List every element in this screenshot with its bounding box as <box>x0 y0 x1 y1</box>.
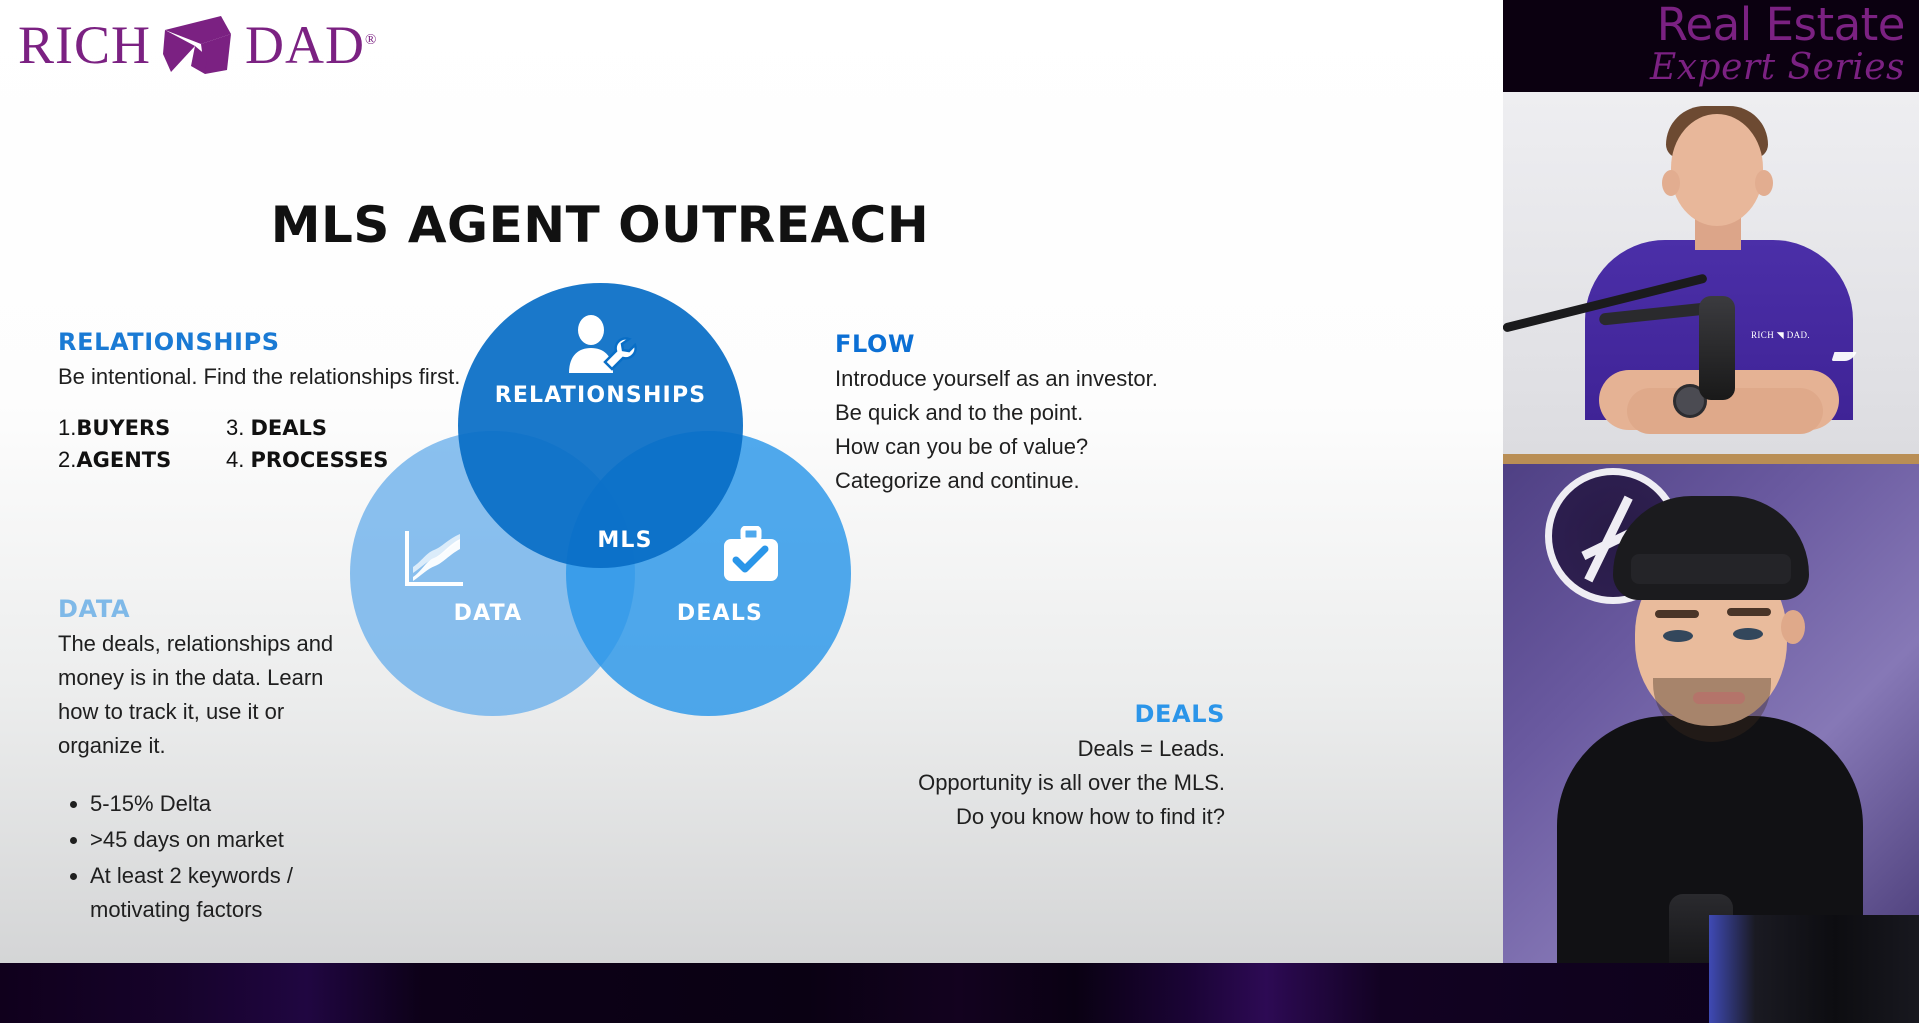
guest-eye-right <box>1733 628 1763 640</box>
registered-mark: ® <box>365 32 377 48</box>
data-body: The deals, relationships and money is in… <box>58 627 358 763</box>
bottom-dark-band <box>0 963 1919 1023</box>
guest-mouth <box>1693 692 1745 704</box>
venn-label-data: DATA <box>368 601 608 626</box>
bottom-right-curtain <box>1709 915 1919 1023</box>
guest-brow-left <box>1655 610 1699 618</box>
venn-label-mls: MLS <box>535 528 715 553</box>
rich-dad-swoosh-icon <box>161 14 235 76</box>
flow-line: How can you be of value? <box>835 430 1215 464</box>
guest-cap <box>1613 496 1809 600</box>
rich-dad-logo: RICH DAD® <box>18 14 377 76</box>
series-line-1: Real Estate <box>1505 2 1905 48</box>
guest-webcam-panel[interactable] <box>1503 454 1919 963</box>
presentation-slide: RICH DAD® MLS AGENT OUTREACH RELATIONSHI… <box>0 0 1503 963</box>
deals-line: Deals = Leads. <box>830 732 1225 766</box>
list-item: At least 2 keywords / motivating factors <box>90 859 358 927</box>
flow-line: Be quick and to the point. <box>835 396 1215 430</box>
guest-ceiling-trim <box>1503 454 1919 464</box>
host-ear-right <box>1755 170 1773 196</box>
series-line-2: Expert Series <box>1505 48 1905 88</box>
venn-diagram: RELATIONSHIPS DATA DEALS MLS <box>350 283 852 718</box>
guest-ear <box>1781 610 1805 644</box>
brand-word-rich: RICH <box>18 14 151 76</box>
flow-line: Introduce yourself as an investor. <box>835 362 1215 396</box>
data-heading: DATA <box>58 595 358 623</box>
host-ear-left <box>1662 170 1680 196</box>
list-item: 2.AGENTS <box>58 447 226 473</box>
deals-text-block: DEALS Deals = Leads. Opportunity is all … <box>830 700 1225 834</box>
list-item: 5-15% Delta <box>90 787 358 821</box>
venn-label-deals: DEALS <box>600 601 840 626</box>
host-head <box>1671 114 1763 226</box>
data-bullet-list: 5-15% Delta >45 days on market At least … <box>90 787 358 927</box>
host-shirt-logo: RICH ◥ DAD. <box>1751 330 1810 341</box>
video-column: RICH ◥ DAD. <box>1503 92 1919 963</box>
page-title: MLS AGENT OUTREACH <box>0 196 1200 254</box>
data-text-block: DATA The deals, relationships and money … <box>58 595 358 929</box>
line-chart-icon <box>402 531 464 594</box>
deals-line: Do you know how to find it? <box>830 800 1225 834</box>
brand-word-dad: DAD® <box>245 14 377 76</box>
screen-capture: RICH DAD® MLS AGENT OUTREACH RELATIONSHI… <box>0 0 1919 1023</box>
person-wrench-icon <box>565 315 637 382</box>
venn-label-relationships: RELATIONSHIPS <box>458 383 743 408</box>
flow-text-block: FLOW Introduce yourself as an investor. … <box>835 330 1215 498</box>
guest-brow-right <box>1727 608 1771 616</box>
guest-cap-band <box>1631 554 1791 584</box>
briefcase-check-icon <box>720 526 782 593</box>
deals-line: Opportunity is all over the MLS. <box>830 766 1225 800</box>
guest-eye-left <box>1663 630 1693 642</box>
flow-heading: FLOW <box>835 330 1215 358</box>
list-item: 1.BUYERS <box>58 415 226 441</box>
expert-series-badge: Real Estate Expert Series <box>1505 2 1905 88</box>
list-item: >45 days on market <box>90 823 358 857</box>
host-webcam-panel[interactable]: RICH ◥ DAD. <box>1503 92 1919 454</box>
flow-line: Categorize and continue. <box>835 464 1215 498</box>
deals-heading: DEALS <box>830 700 1225 728</box>
microphone-icon <box>1699 296 1735 400</box>
